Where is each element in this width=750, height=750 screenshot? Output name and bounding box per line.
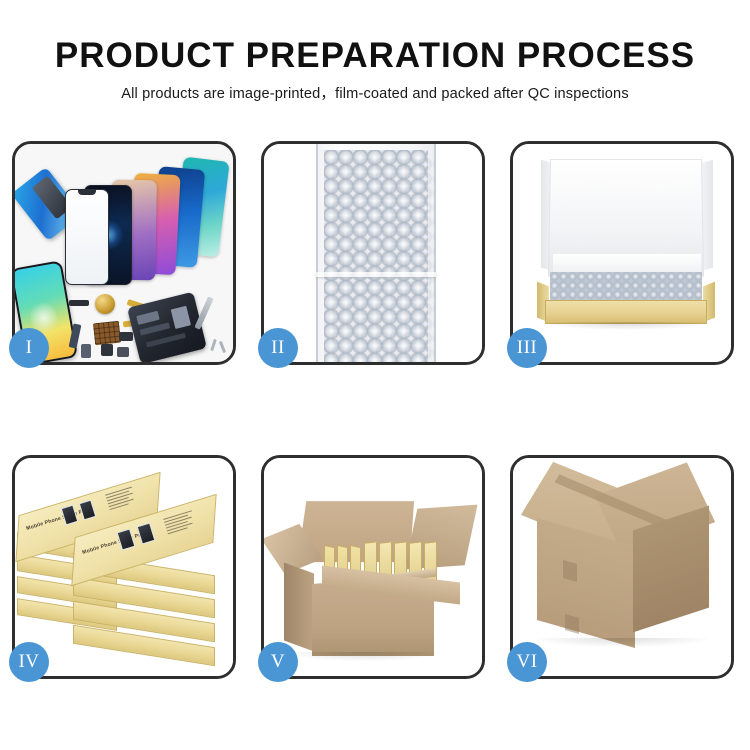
page-header: PRODUCT PREPARATION PROCESS All products… xyxy=(0,36,750,103)
screws-icon xyxy=(208,339,230,353)
retail-box-stack-image: Mobile Phone Spare Parts Mobile Phone Sp… xyxy=(15,458,233,676)
box-drop-shadow xyxy=(543,322,709,330)
small-part-3-icon xyxy=(117,347,129,357)
small-part-2-icon xyxy=(101,344,113,356)
sealed-carton-drop-shadow xyxy=(535,638,709,647)
spare-parts-display-image xyxy=(15,144,233,362)
inner-box-packing-image xyxy=(513,144,731,362)
carton-tape-tab-lower xyxy=(565,614,579,634)
sealed-carton-image xyxy=(513,458,731,676)
page-title: PRODUCT PREPARATION PROCESS xyxy=(0,36,750,76)
step-badge-1: I xyxy=(9,328,49,368)
bubble-wrap-sleeve-image xyxy=(264,144,482,362)
step-panel-5[interactable]: V xyxy=(261,455,485,679)
small-part-1-icon xyxy=(81,344,91,358)
wrap-seam-left xyxy=(316,144,318,362)
step-panel-6[interactable]: VI xyxy=(510,455,734,679)
box-tray-front-panel xyxy=(545,300,707,324)
carton-tape-tab-upper xyxy=(563,560,577,582)
bubble-wrap-overlay-icon xyxy=(331,157,435,362)
step-panel-2[interactable]: II xyxy=(261,141,485,365)
copper-coil-part-icon xyxy=(95,294,115,314)
carton-left-side xyxy=(284,563,314,652)
step-badge-2: II xyxy=(258,328,298,368)
step-badge-4: IV xyxy=(9,642,49,682)
box-stack: Mobile Phone Spare Parts Mobile Phone Sp… xyxy=(15,458,233,676)
small-part-4-icon xyxy=(119,332,133,341)
bubble-wrapped-contents-icon xyxy=(550,272,702,302)
process-steps-grid: I II xyxy=(12,141,738,679)
carton-filling-image xyxy=(264,458,482,676)
step-badge-6: VI xyxy=(507,642,547,682)
step-badge-5: V xyxy=(258,642,298,682)
carton-drop-shadow xyxy=(286,652,440,661)
step-panel-3[interactable]: III xyxy=(510,141,734,365)
page-subtitle: All products are image-printed，film-coat… xyxy=(0,85,750,103)
product-preparation-page: PRODUCT PREPARATION PROCESS All products… xyxy=(0,0,750,750)
speaker-part-icon xyxy=(69,300,89,306)
wrap-fold-line xyxy=(316,272,436,277)
step-panel-4[interactable]: Mobile Phone Spare Parts Mobile Phone Sp… xyxy=(12,455,236,679)
step-badge-3: III xyxy=(507,328,547,368)
phone-screen-blank-icon xyxy=(65,189,109,285)
chip-array-part-icon xyxy=(93,321,121,346)
wrap-seam-right xyxy=(434,144,436,362)
step-panel-1[interactable]: I xyxy=(12,141,236,365)
